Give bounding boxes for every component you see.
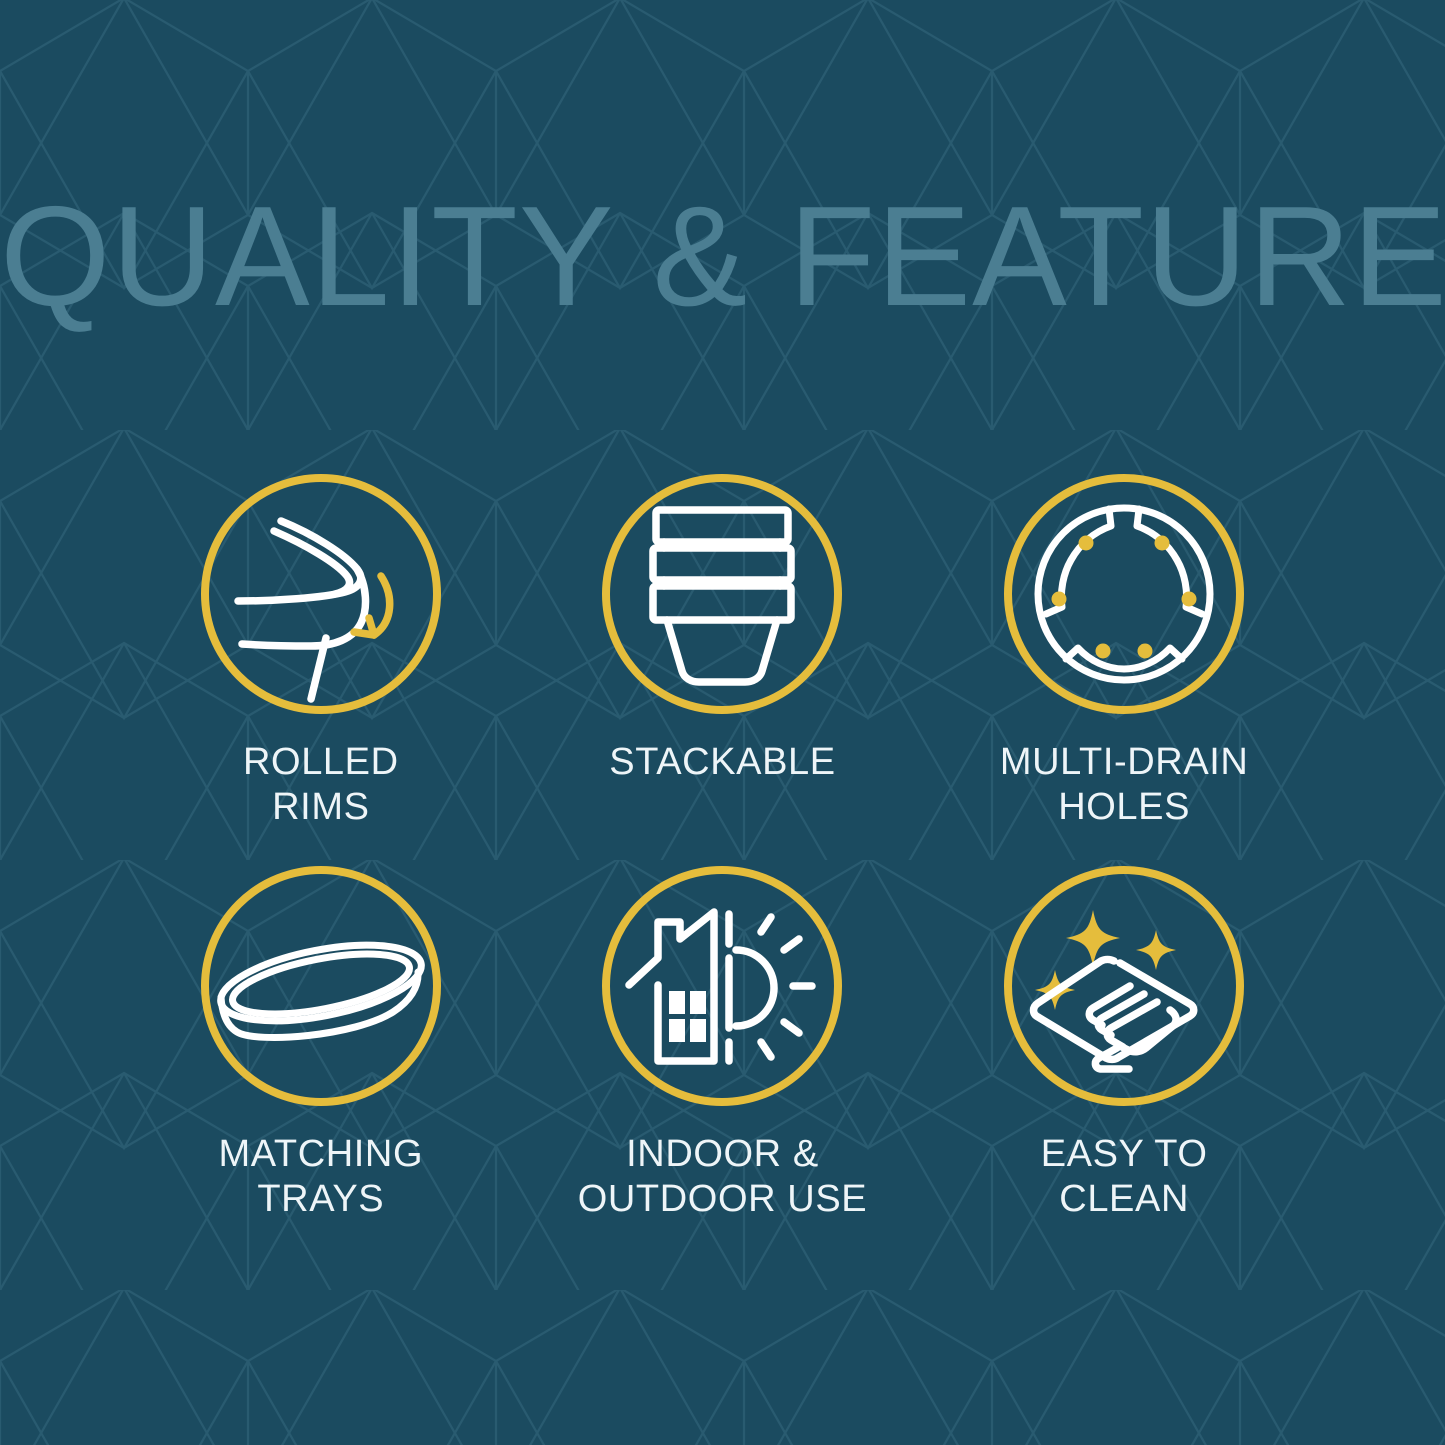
- feature-item-easy-to-clean[interactable]: EASY TO CLEAN: [923, 860, 1325, 1252]
- feature-item-stackable[interactable]: STACKABLE: [522, 468, 924, 860]
- feature-item-indoor-outdoor-use[interactable]: INDOOR & OUTDOOR USE: [522, 860, 924, 1252]
- features-grid: ROLLED RIMS: [120, 468, 1325, 1252]
- feature-label-line1: MULTI-DRAIN: [1000, 740, 1249, 785]
- hand-wipe-sparkle-icon: [998, 860, 1250, 1112]
- feature-item-matching-trays[interactable]: MATCHING TRAYS: [120, 860, 522, 1252]
- feature-label-rolled-rims: ROLLED RIMS: [243, 740, 399, 830]
- feature-label-line2: TRAYS: [219, 1177, 424, 1222]
- feature-label-matching-trays: MATCHING TRAYS: [219, 1132, 424, 1222]
- feature-item-multi-drain-holes[interactable]: MULTI-DRAIN HOLES: [923, 468, 1325, 860]
- feature-label-line1: EASY TO: [1041, 1132, 1208, 1177]
- drain-holes-icon: [998, 468, 1250, 720]
- feature-label-line2: RIMS: [243, 785, 399, 830]
- feature-label-line2: HOLES: [1000, 785, 1249, 830]
- feature-label-line1: ROLLED: [243, 740, 399, 785]
- feature-item-rolled-rims[interactable]: ROLLED RIMS: [120, 468, 522, 860]
- tray-saucer-icon: [195, 860, 447, 1112]
- feature-label-line1: INDOOR &: [578, 1132, 868, 1177]
- feature-label-line2: OUTDOOR USE: [578, 1177, 868, 1222]
- feature-label-multi-drain-holes: MULTI-DRAIN HOLES: [1000, 740, 1249, 830]
- feature-label-line1: MATCHING: [219, 1132, 424, 1177]
- rolled-rim-icon: [195, 468, 447, 720]
- feature-label-line1: STACKABLE: [609, 740, 835, 785]
- quality-and-features-panel: QUALITY & FEATURES: [0, 0, 1445, 1445]
- feature-label-easy-to-clean: EASY TO CLEAN: [1041, 1132, 1208, 1222]
- feature-label-line2: CLEAN: [1041, 1177, 1208, 1222]
- feature-label-indoor-outdoor-use: INDOOR & OUTDOOR USE: [578, 1132, 868, 1222]
- page-title: QUALITY & FEATURES: [0, 186, 1445, 328]
- feature-label-stackable: STACKABLE: [609, 740, 835, 785]
- house-sun-icon: [596, 860, 848, 1112]
- stacked-pots-icon: [596, 468, 848, 720]
